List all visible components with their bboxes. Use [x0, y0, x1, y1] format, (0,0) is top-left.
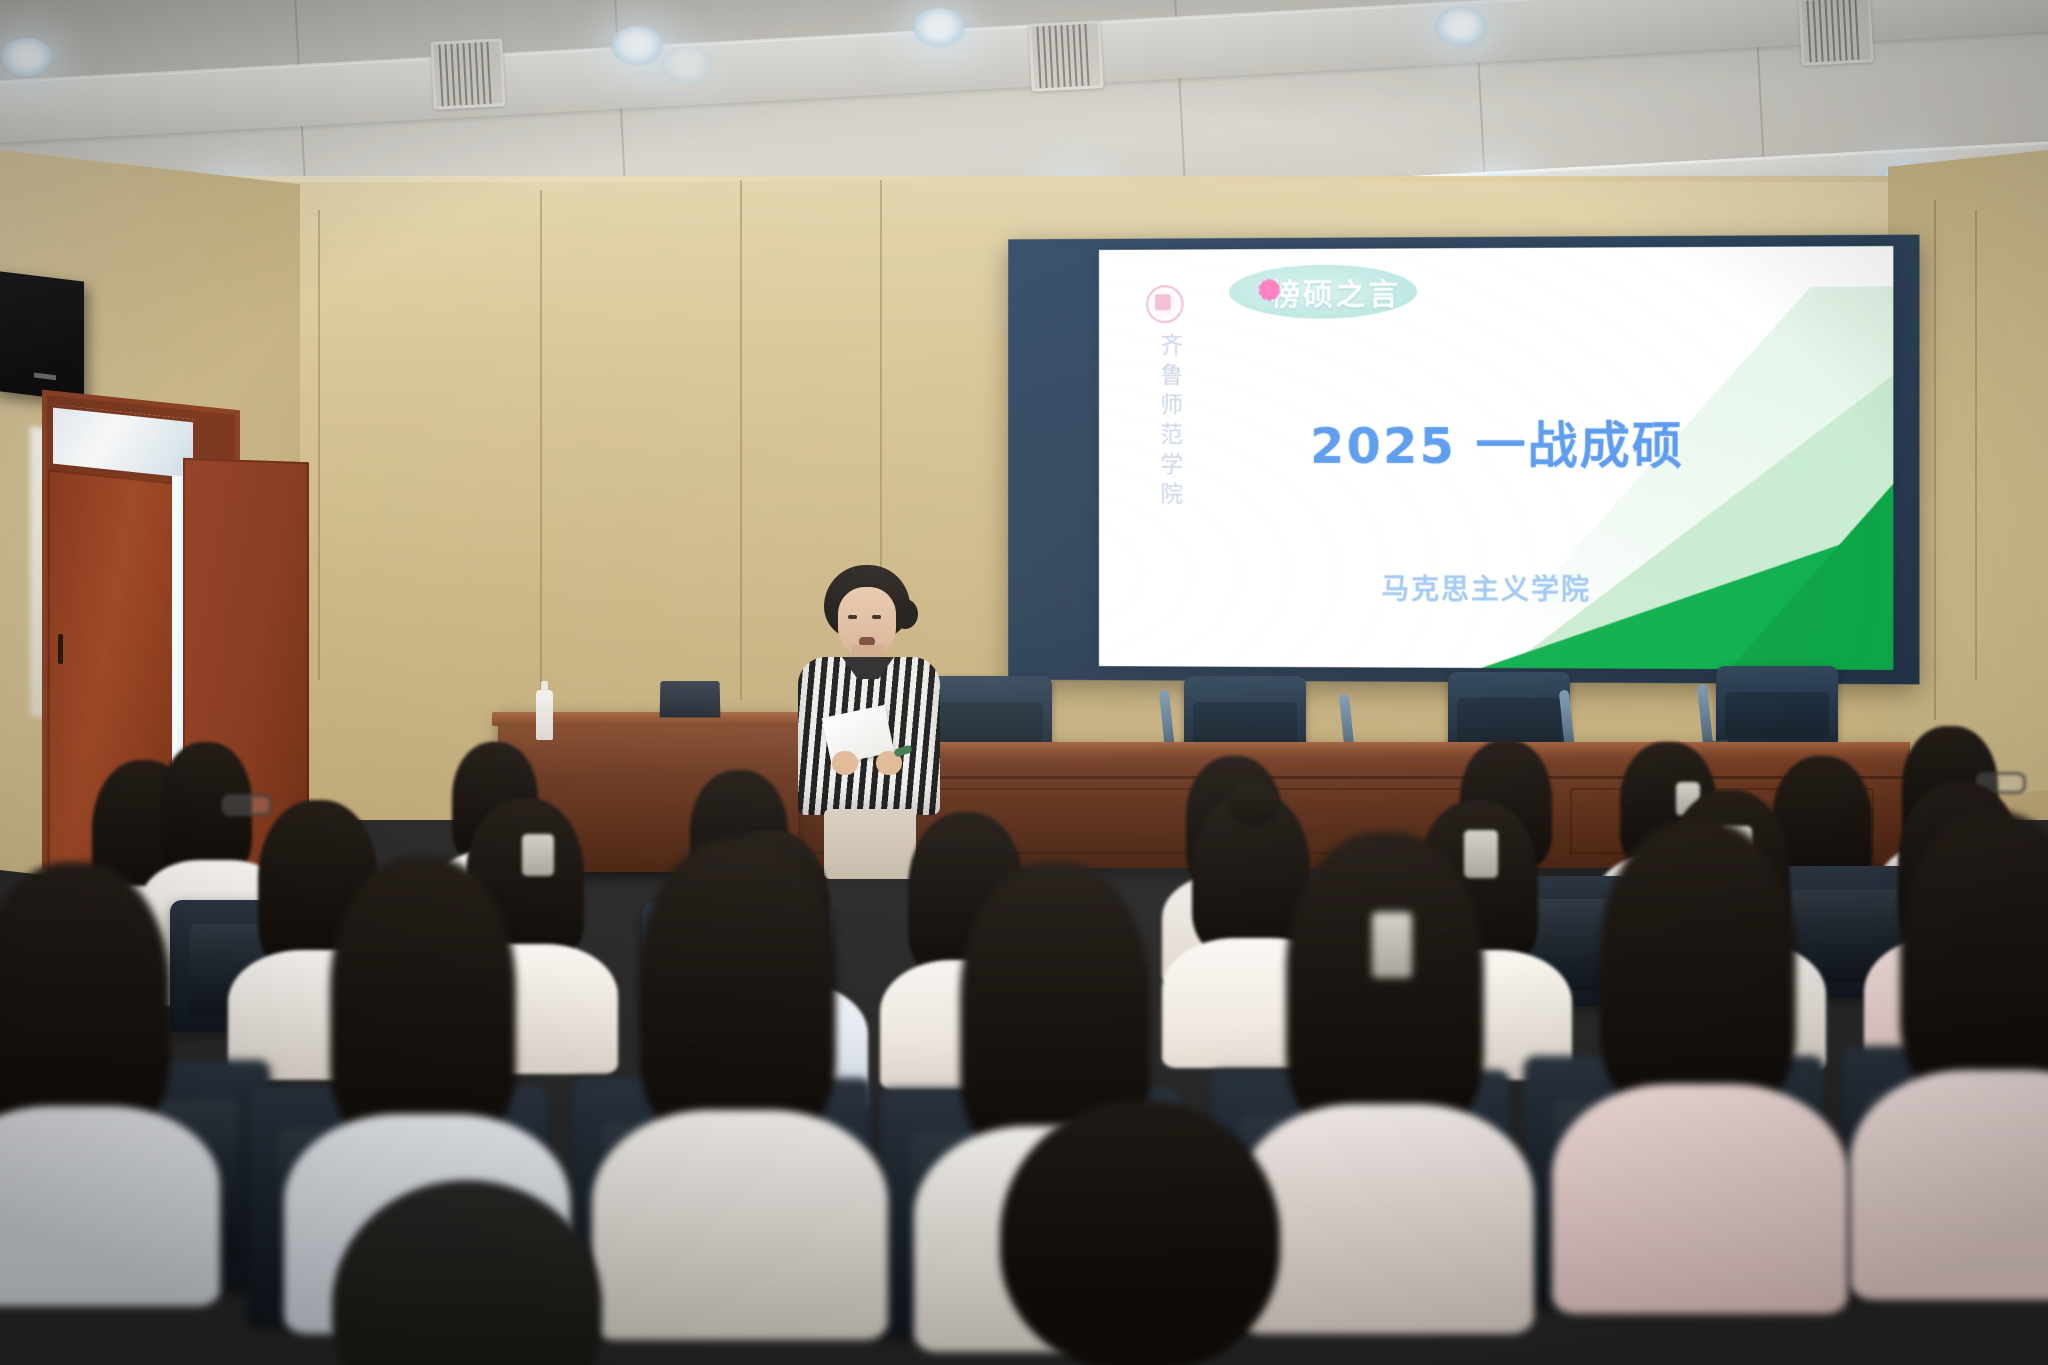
- audience-near-row: [0, 0, 2048, 1365]
- lecture-hall-photograph: 榜硕之言 齐鲁师范学院 2025 一战成硕 马克思主义学院: [0, 0, 2048, 1365]
